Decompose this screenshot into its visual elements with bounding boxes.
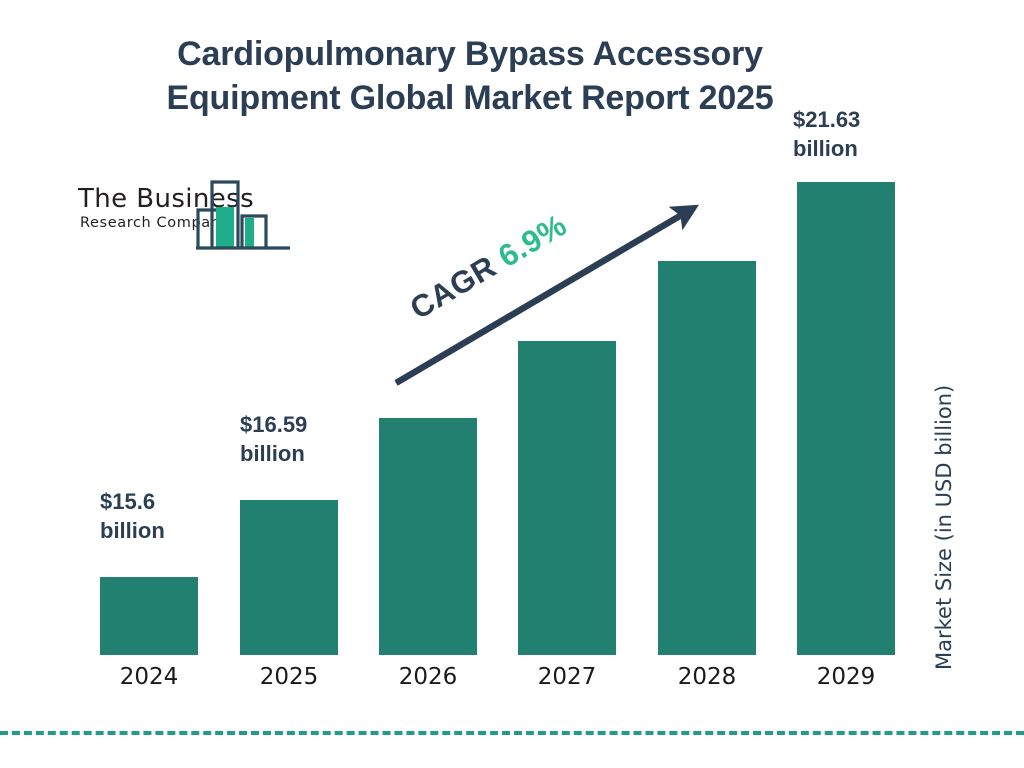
x-axis-tick-2024: 2024 xyxy=(100,664,198,690)
company-logo: The Business Research Company xyxy=(78,180,290,256)
cagr-annotation: CAGR 6.9% xyxy=(404,207,573,327)
x-axis-tick-2026: 2026 xyxy=(379,664,477,690)
x-axis-tick-2027: 2027 xyxy=(518,664,616,690)
x-axis-tick-2029: 2029 xyxy=(797,664,895,690)
y-axis-title: Market Size (in USD billion) xyxy=(932,330,956,670)
cagr-value-text: 6.9% xyxy=(492,207,572,274)
bar-2029 xyxy=(797,182,895,655)
bar-value-label-2024: $15.6 billion xyxy=(100,488,165,545)
bar-2026 xyxy=(379,418,477,655)
bar-value-label-2029: $21.63 billion xyxy=(793,106,860,163)
bar-2027 xyxy=(518,341,616,655)
x-axis-tick-2028: 2028 xyxy=(658,664,756,690)
bar-2024 xyxy=(100,577,198,655)
logo-bar-chart-icon xyxy=(196,178,290,250)
cagr-label-text: CAGR xyxy=(404,249,502,327)
bar-2025 xyxy=(240,500,338,655)
chart-canvas: Cardiopulmonary Bypass Accessory Equipme… xyxy=(0,0,1024,768)
bar-2028 xyxy=(658,261,756,655)
page-title: Cardiopulmonary Bypass Accessory Equipme… xyxy=(60,32,880,120)
x-axis-tick-2025: 2025 xyxy=(240,664,338,690)
footer-divider xyxy=(0,731,1024,735)
bar-value-label-2025: $16.59 billion xyxy=(240,411,307,468)
